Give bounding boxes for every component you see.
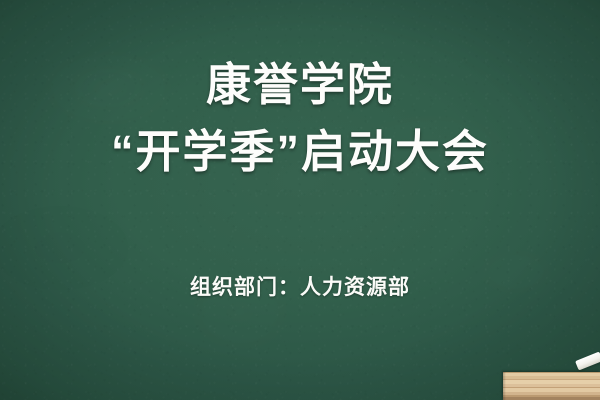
chalk-ledge	[503, 372, 600, 400]
slide-subtitle: 组织部门：人力资源部	[0, 275, 600, 300]
slide-title-block: 康誉学院 “开学季”启动大会	[0, 62, 600, 174]
slide-title-line-1: 康誉学院	[0, 62, 600, 107]
presentation-slide: 康誉学院 “开学季”启动大会 组织部门：人力资源部	[0, 0, 600, 400]
slide-content: 康誉学院 “开学季”启动大会 组织部门：人力资源部	[0, 0, 600, 400]
slide-title-line-2: “开学季”启动大会	[0, 129, 600, 174]
